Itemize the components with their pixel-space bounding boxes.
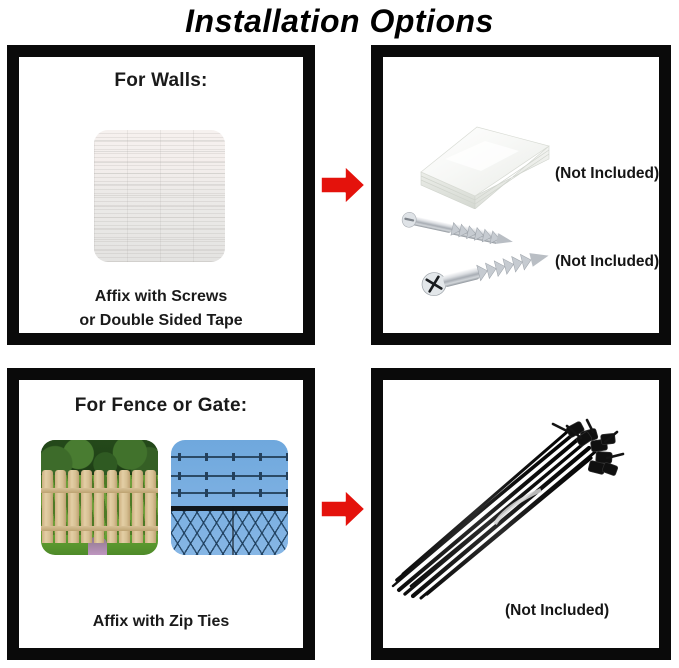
arrow-fence-to-zipties [320,488,366,530]
tape-stack-icon [415,119,555,209]
panel-for-walls-caption: Affix with Screws or Double Sided Tape [19,285,303,333]
panel-zip-ties: (Not Included) [371,368,671,660]
white-brick-wall-swatch [94,130,225,262]
wooden-picket-fence-photo [41,440,158,555]
panel-for-fence-caption: Affix with Zip Ties [19,610,303,634]
caption-line-2: or Double Sided Tape [19,309,303,333]
barbed-wire-strand [171,456,288,458]
double-sided-tape-stack [415,119,555,209]
panel-for-walls-content: For Walls: Affix with Screws or Double S… [19,57,303,333]
black-zip-ties-bundle [391,418,636,603]
zip-ties-icon [391,418,636,603]
panel-wall-hardware-content: (Not Included) [383,57,659,333]
right-arrow-icon [320,164,366,206]
panel-for-walls-heading: For Walls: [19,70,303,92]
arrow-walls-to-hardware [320,164,366,206]
barbed-wire-strand [171,492,288,494]
screws-not-included-label: (Not Included) [555,253,659,271]
panel-zip-ties-content: (Not Included) [383,380,659,648]
screws-pair [395,202,575,307]
zipties-not-included-label: (Not Included) [505,602,609,620]
chain-link-mesh [171,511,288,555]
caption-line-1: Affix with Screws [19,285,303,309]
panel-for-walls: For Walls: Affix with Screws or Double S… [7,45,315,345]
panel-for-fence-or-gate-content: For Fence or Gate: [19,380,303,648]
chain-link-post [232,506,234,555]
screws-icon [395,202,575,307]
fence-pickets [41,470,158,544]
right-arrow-icon [320,488,366,530]
page-title: Installation Options [0,2,679,40]
panel-for-fence-or-gate: For Fence or Gate: [7,368,315,660]
barbed-wire-strand [171,475,288,477]
panel-for-fence-heading: For Fence or Gate: [19,395,303,417]
chain-link-barbed-wire-fence-photo [171,440,288,555]
panel-wall-hardware: (Not Included) [371,45,671,345]
tape-not-included-label: (Not Included) [555,165,659,183]
